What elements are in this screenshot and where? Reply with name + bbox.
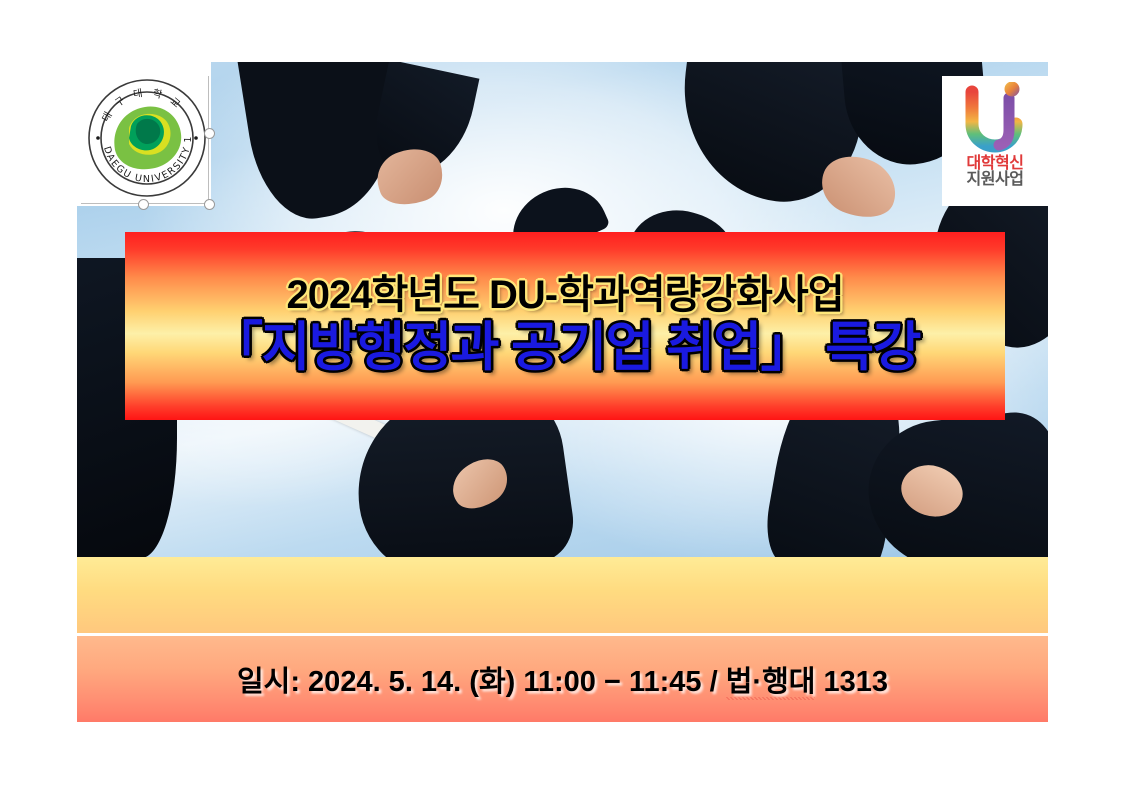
datetime-suffix: 11:45 / <box>621 666 726 698</box>
innovation-logo-line1: 대학혁신 <box>967 156 1024 172</box>
innovation-u-mark-icon <box>960 82 1030 154</box>
university-innovation-logo: 대학혁신 지원사업 <box>942 76 1048 206</box>
location-room: 1313 <box>815 666 888 698</box>
event-datetime-location: 일시: 2024. 5. 14. (화) 11:00 − 11:45 / 법·행… <box>237 658 888 700</box>
daegu-university-seal-icon: 대 구 대 학 교 DAEGU UNIVERSITY 1956 <box>85 76 209 200</box>
title-line-lecture: 「지방행정과 공기업 취업」 특강 <box>210 319 920 377</box>
datetime-dash: − <box>604 666 621 698</box>
title-line-program: 2024학년도 DU-학과역량강화사업 <box>287 274 844 317</box>
title-banner: 2024학년도 DU-학과역량강화사업 「지방행정과 공기업 취업」 특강 <box>125 232 1005 420</box>
yellow-gradient-band <box>77 557 1048 633</box>
location-building: 법·행대 <box>726 666 816 700</box>
university-seal-plate: 대 구 대 학 교 DAEGU UNIVERSITY 1956 <box>77 62 211 206</box>
footer-band: 일시: 2024. 5. 14. (화) 11:00 − 11:45 / 법·행… <box>77 636 1048 722</box>
event-poster: 대 구 대 학 교 DAEGU UNIVERSITY 1956 <box>77 62 1048 722</box>
datetime-prefix: 일시: 2024. 5. 14. (화) 11:00 <box>237 666 604 698</box>
innovation-logo-line2: 지원사업 <box>967 172 1024 188</box>
innovation-logo-text: 대학혁신 지원사업 <box>967 156 1024 189</box>
